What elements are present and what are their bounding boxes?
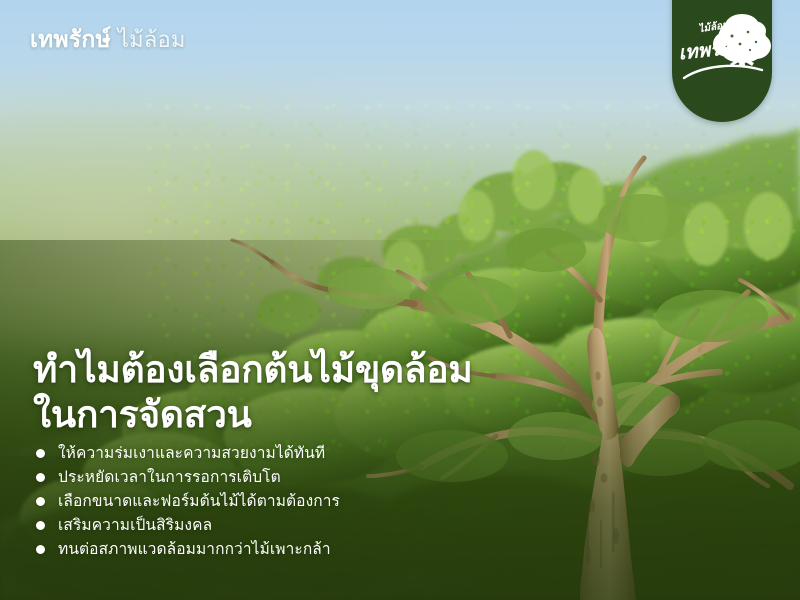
list-item: ให้ความร่มเงาและความสวยงามได้ทันที (36, 441, 466, 465)
brand-name-primary: เทพรักษ์ (30, 26, 111, 55)
bullet-dot-icon (36, 521, 45, 530)
promo-banner: เทพรักษ์ ไม้ล้อม (0, 0, 800, 600)
benefit-text: ให้ความร่มเงาและความสวยงามได้ทันที (58, 441, 325, 465)
list-item: ทนต่อสภาพแวดล้อมมากกว่าไม้เพาะกล้า (36, 537, 466, 561)
benefit-text: ประหยัดเวลาในการรอการเติบโต (58, 465, 281, 489)
logo-ground-swoosh (684, 66, 762, 78)
bullet-dot-icon (36, 497, 45, 506)
headline-line-1: ทำไมต้องเลือกต้นไม้ขุดล้อม (33, 347, 503, 392)
list-item: เลือกขนาดและฟอร์มต้นไม้ได้ตามต้องการ (36, 489, 466, 513)
headline-line-2: ในการจัดสวน (33, 392, 503, 437)
benefit-text: เสริมความเป็นสิริมงคล (58, 513, 212, 537)
brand-name-secondary: ไม้ล้อม (118, 27, 186, 55)
list-item: เสริมความเป็นสิริมงคล (36, 513, 466, 537)
bullet-dot-icon (36, 449, 45, 458)
benefit-list: ให้ความร่มเงาและความสวยงามได้ทันที ประหย… (36, 441, 466, 561)
page-title: ทำไมต้องเลือกต้นไม้ขุดล้อม ในการจัดสวน (33, 347, 503, 437)
brand-wordmark: เทพรักษ์ ไม้ล้อม (30, 26, 186, 55)
bullet-dot-icon (36, 473, 45, 482)
benefit-text: เลือกขนาดและฟอร์มต้นไม้ได้ตามต้องการ (58, 489, 340, 513)
benefit-text: ทนต่อสภาพแวดล้อมมากกว่าไม้เพาะกล้า (58, 537, 331, 561)
list-item: ประหยัดเวลาในการรอการเติบโต (36, 465, 466, 489)
logo-badge[interactable]: ไม้ล้อม เทพรักษ์ (672, 0, 772, 122)
bullet-dot-icon (36, 545, 45, 554)
